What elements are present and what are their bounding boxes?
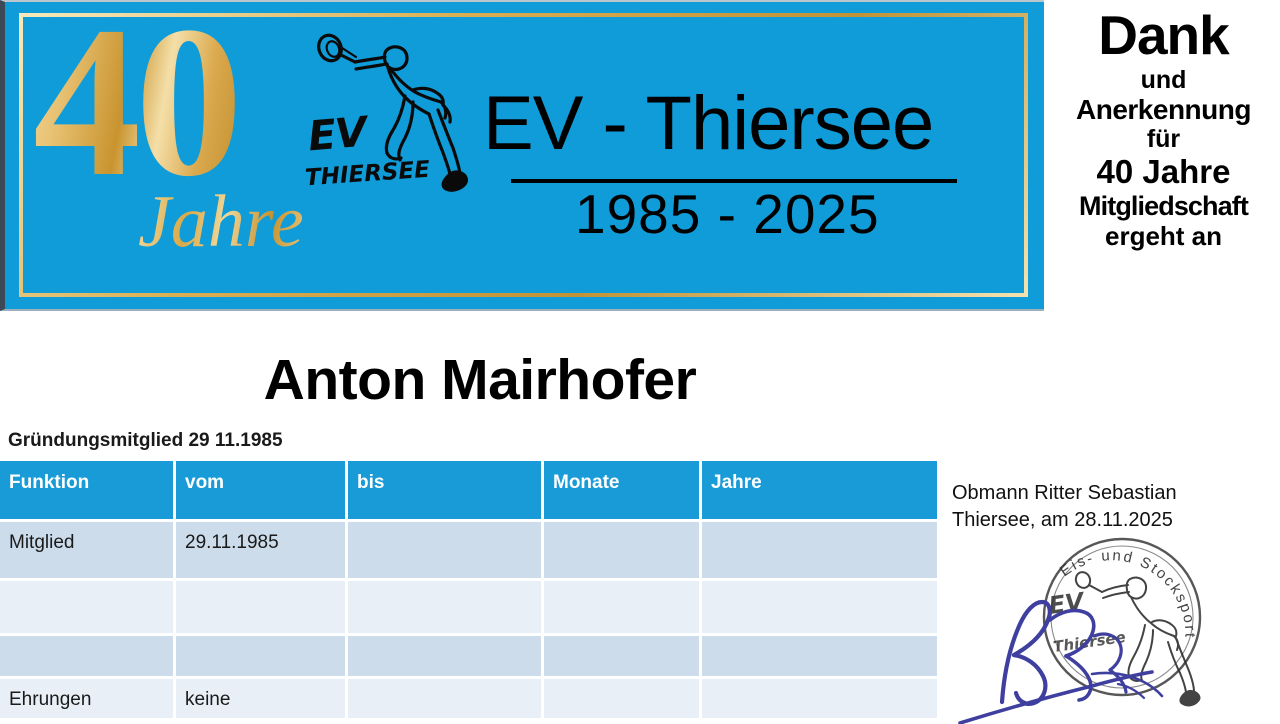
anniversary-number: 40 <box>33 0 237 210</box>
founding-member-note: Gründungsmitglied 29 11.1985 <box>8 430 283 452</box>
cell-jahre <box>702 679 940 721</box>
dedication-line-mitgliedschaft: Mitgliedschaft <box>1047 191 1280 221</box>
column-header-jahre: Jahre <box>702 461 940 522</box>
dedication-line-fuer: für <box>1047 125 1280 153</box>
cell-monate <box>544 636 702 679</box>
cell-vom <box>176 581 348 636</box>
cell-bis <box>348 522 544 581</box>
signature-block: Obmann Ritter Sebastian Thiersee, am 28.… <box>952 480 1280 534</box>
cell-vom <box>176 636 348 679</box>
club-stamp-icon: Eis- und Stocksportverein EV Thiersee <box>942 524 1200 705</box>
svg-text:Eis- und Stocksportverein: Eis- und Stocksportverein <box>942 524 1198 640</box>
club-logo: EV THIERSEE <box>293 26 483 216</box>
cell-jahre <box>702 581 940 636</box>
cell-bis <box>348 581 544 636</box>
cell-funktion: Ehrungen <box>0 679 176 721</box>
club-title: EV - Thiersee <box>483 86 933 162</box>
cell-funktion <box>0 636 176 679</box>
column-header-funktion: Funktion <box>0 461 176 522</box>
table-row <box>0 581 940 636</box>
cell-jahre <box>702 522 940 581</box>
cell-funktion <box>0 581 176 636</box>
cell-bis <box>348 679 544 721</box>
anniversary-word: Jahre <box>138 185 304 259</box>
cell-vom: keine <box>176 679 348 721</box>
signature-name-line: Obmann Ritter Sebastian <box>952 480 1280 507</box>
cell-jahre <box>702 636 940 679</box>
dedication-line-40-jahre: 40 Jahre <box>1047 154 1280 191</box>
dedication-line-anerkennung: Anerkennung <box>1047 94 1280 125</box>
anniversary-banner: 40 Jahre <box>0 0 1044 311</box>
club-years-range: 1985 - 2025 <box>575 187 880 242</box>
cell-funktion: Mitglied <box>0 522 176 581</box>
signature-artwork: Eis- und Stocksportverein EV Thiersee <box>942 524 1272 724</box>
table-row: Ehrungen keine <box>0 679 940 721</box>
cell-monate <box>544 522 702 581</box>
dedication-line-und: und <box>1047 66 1280 94</box>
dedication-line-dank: Dank <box>1047 8 1280 63</box>
cell-vom: 29.11.1985 <box>176 522 348 581</box>
cell-monate <box>544 581 702 636</box>
honoree-name: Anton Mairhofer <box>0 352 960 409</box>
dedication-text-block: Dank und Anerkennung für 40 Jahre Mitgli… <box>1047 8 1280 251</box>
club-logo-ev-text: EV <box>306 108 368 161</box>
column-header-vom: vom <box>176 461 348 522</box>
table-row <box>0 636 940 679</box>
svg-text:EV: EV <box>1047 587 1088 620</box>
membership-table: Funktion vom bis Monate Jahre Mitglied 2… <box>0 461 940 721</box>
table-header-row: Funktion vom bis Monate Jahre <box>0 461 940 522</box>
column-header-monate: Monate <box>544 461 702 522</box>
column-header-bis: bis <box>348 461 544 522</box>
dedication-line-ergeht-an: ergeht an <box>1047 222 1280 251</box>
table-row: Mitglied 29.11.1985 <box>0 522 940 581</box>
cell-monate <box>544 679 702 721</box>
cell-bis <box>348 636 544 679</box>
